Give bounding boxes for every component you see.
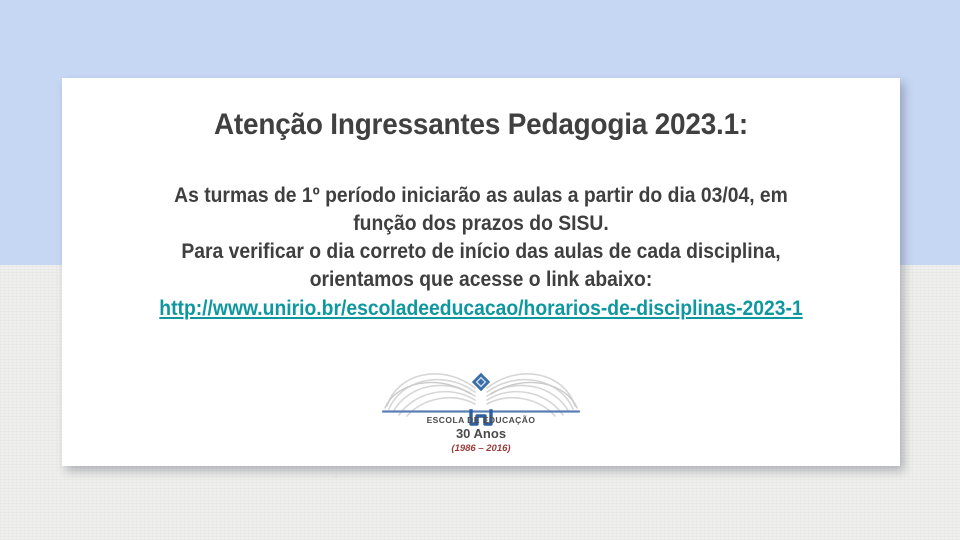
escola-de-educacao-logo: ESCOLA DE EDUCAÇÃO 30 Anos (1986 – 2016) (371, 354, 591, 464)
logo-year-range: (1986 – 2016) (371, 444, 591, 454)
body-line: As turmas de 1º período iniciarão as aul… (96, 182, 867, 210)
announcement-card: Atenção Ingressantes Pedagogia 2023.1: A… (62, 78, 900, 466)
logo-anniversary: 30 Anos (371, 427, 591, 440)
schedule-link-wrapper: http://www.unirio.br/escoladeeducacao/ho… (96, 295, 867, 323)
page-title: Atenção Ingressantes Pedagogia 2023.1: (91, 108, 870, 142)
slide-canvas: Atenção Ingressantes Pedagogia 2023.1: A… (0, 0, 960, 540)
schedule-link[interactable]: http://www.unirio.br/escoladeeducacao/ho… (159, 297, 802, 320)
logo-school-name: ESCOLA DE EDUCAÇÃO (371, 416, 591, 425)
body-line: Para verificar o dia correto de início d… (96, 238, 867, 266)
announcement-card-inner: Atenção Ingressantes Pedagogia 2023.1: A… (62, 78, 900, 466)
body-line: orientamos que acesse o link abaixo: (96, 266, 867, 294)
body-line: função dos prazos do SISU. (96, 210, 867, 238)
announcement-body: As turmas de 1º período iniciarão as aul… (62, 182, 900, 323)
